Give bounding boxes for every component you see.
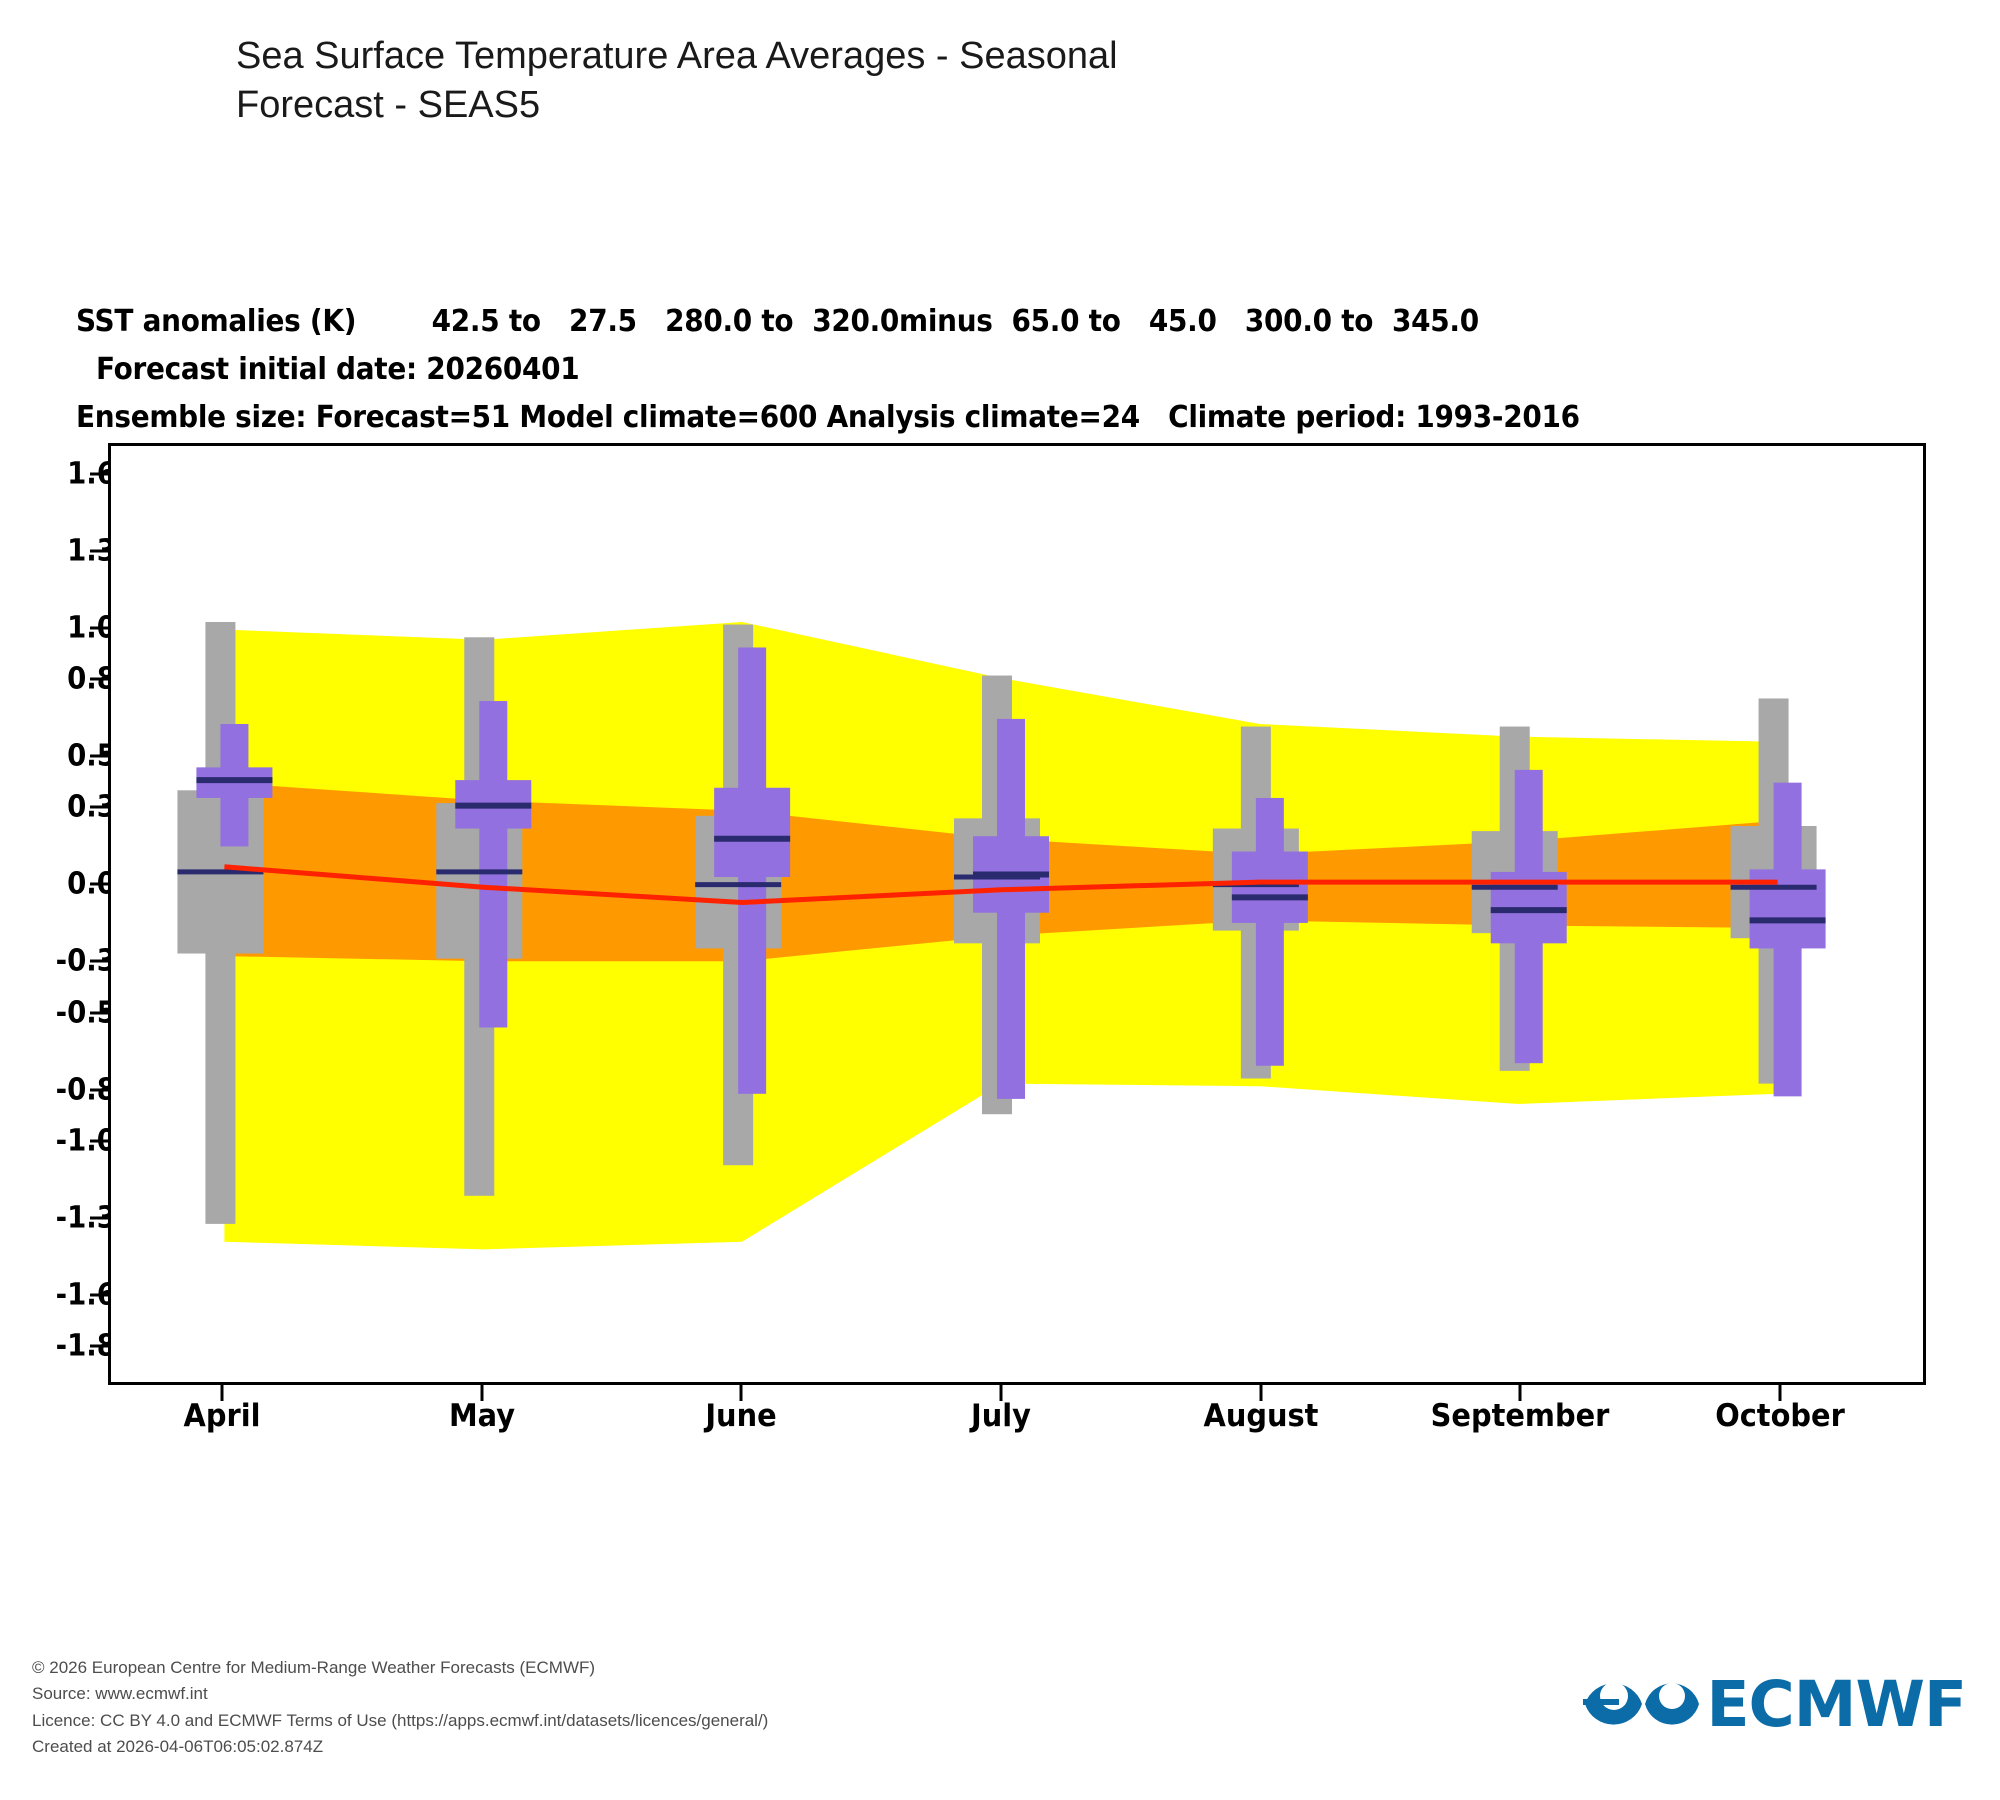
y-axis-tick-mark <box>90 1294 110 1297</box>
y-axis-tick-mark <box>90 1140 110 1143</box>
ecmwf-mark-icon <box>1583 1668 1701 1740</box>
y-axis-tick-mark <box>90 755 110 758</box>
footer-copyright: © 2026 European Centre for Medium-Range … <box>32 1655 768 1760</box>
x-axis-tick-label-april: April <box>183 1398 260 1434</box>
forecast-box <box>714 788 790 877</box>
y-axis-tick-mark <box>90 1217 110 1220</box>
y-axis-tick-mark <box>90 626 110 629</box>
x-axis-tick-label-june: June <box>706 1398 777 1434</box>
y-axis-tick-mark <box>90 883 110 886</box>
x-axis-tick-mark <box>1519 1385 1522 1401</box>
plot-area <box>108 443 1926 1385</box>
forecast-whisker <box>1256 798 1284 1066</box>
x-axis-tick-label-august: August <box>1203 1398 1318 1434</box>
boxplot-svg <box>111 446 1923 1382</box>
y-axis-tick-mark <box>90 678 110 681</box>
y-axis-tick-mark <box>90 1088 110 1091</box>
forecast-whisker <box>479 701 507 1027</box>
x-axis-tick-mark <box>740 1385 743 1401</box>
forecast-box <box>1232 852 1308 923</box>
y-axis-tick-mark <box>90 960 110 963</box>
y-axis-tick-mark <box>90 549 110 552</box>
x-axis-tick-mark <box>1259 1385 1262 1401</box>
x-axis-tick-mark <box>480 1385 483 1401</box>
x-axis-tick-mark <box>999 1385 1002 1401</box>
header-forecast-date-line: Forecast initial date: 20260401 <box>96 352 579 387</box>
x-axis-tick-label-october: October <box>1715 1398 1845 1434</box>
x-axis-tick-label-july: July <box>971 1398 1031 1434</box>
y-axis-tick-mark <box>90 806 110 809</box>
y-axis-tick-mark <box>90 472 110 475</box>
x-axis-tick-mark <box>1779 1385 1782 1401</box>
page-title: Sea Surface Temperature Area Averages - … <box>236 32 1636 131</box>
header-ensemble-size-line: Ensemble size: Forecast=51 Model climate… <box>76 400 1580 435</box>
x-axis-tick-label-september: September <box>1431 1398 1610 1434</box>
ecmwf-wordmark: ECMWF <box>1707 1673 1967 1736</box>
header-anomaly-region-line: SST anomalies (K) 42.5 to 27.5 280.0 to … <box>76 304 1479 339</box>
x-axis-tick-mark <box>220 1385 223 1401</box>
y-axis-tick-mark <box>90 1345 110 1348</box>
y-axis-tick-mark <box>90 1011 110 1014</box>
x-axis-tick-label-may: May <box>448 1398 514 1434</box>
ecmwf-logo: ECMWF <box>1583 1668 1967 1740</box>
